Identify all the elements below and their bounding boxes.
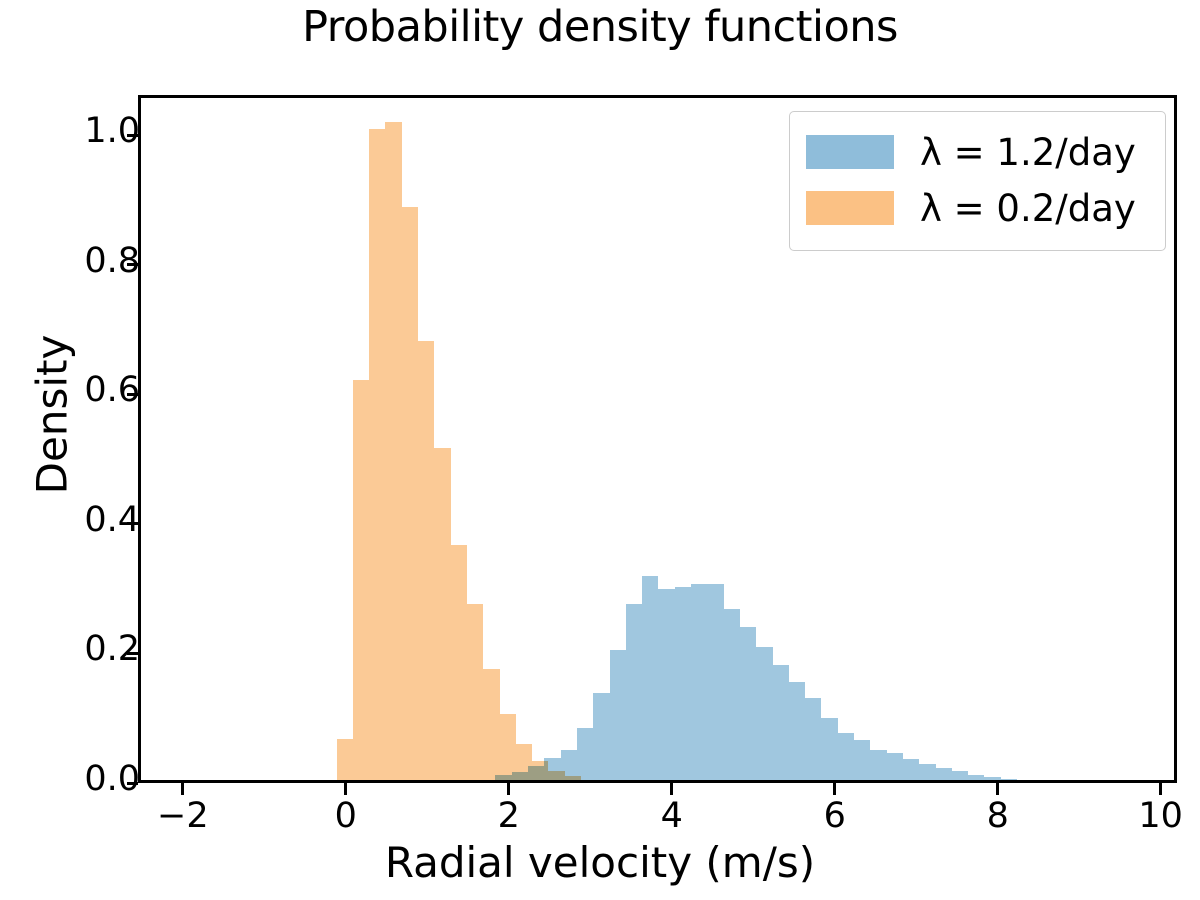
y-axis-tick-label: 0.2 (84, 629, 140, 669)
x-axis-tick-label: 0 (335, 796, 357, 836)
histogram-bar (495, 775, 511, 780)
histogram-bar (740, 627, 756, 780)
histogram-bar (805, 698, 821, 780)
histogram-bar (402, 207, 418, 780)
histogram-bar (1001, 779, 1017, 780)
histogram-bar (353, 380, 369, 780)
histogram-bar (870, 750, 886, 780)
legend-swatch-icon (806, 191, 894, 225)
histogram-bar (691, 584, 707, 780)
histogram-bar (903, 759, 919, 780)
y-axis-tick-label: 1.0 (84, 111, 140, 151)
histogram-bar (952, 771, 968, 780)
histogram-bar (887, 753, 903, 780)
histogram-bar (707, 584, 723, 780)
x-axis-tick (833, 783, 836, 795)
histogram-bar (658, 589, 674, 780)
histogram-bar (434, 448, 450, 780)
histogram-bar (642, 576, 658, 780)
legend-item-label: λ = 1.2/day (920, 131, 1136, 174)
histogram-bar (512, 772, 528, 780)
histogram-bar (789, 682, 805, 780)
histogram-bar (919, 764, 935, 780)
x-axis-tick (344, 783, 347, 795)
x-axis-tick-label: 8 (987, 796, 1009, 836)
x-axis-tick-label: −2 (157, 796, 209, 836)
x-axis-tick (507, 783, 510, 795)
histogram-bar (984, 777, 1000, 780)
histogram-bar (561, 750, 577, 780)
y-axis-label: Density (28, 265, 77, 565)
histogram-bar (773, 665, 789, 780)
y-axis-tick-label: 0.4 (84, 500, 140, 540)
x-axis-tick-label: 4 (661, 796, 683, 836)
y-axis-tick-label: 0.6 (84, 370, 140, 410)
histogram-bar (544, 758, 560, 780)
histogram-bar (838, 733, 854, 780)
histogram-bar (500, 714, 516, 780)
legend-item-label: λ = 0.2/day (920, 187, 1136, 230)
histogram-bar (483, 669, 499, 780)
page-title: Probability density functions (0, 2, 1200, 52)
x-axis-label: Radial velocity (m/s) (0, 838, 1200, 887)
legend: λ = 1.2/day λ = 0.2/day (789, 111, 1166, 251)
histogram-bar (593, 693, 609, 780)
x-axis-tick (181, 783, 184, 795)
histogram-bar (337, 739, 353, 780)
x-axis-tick (996, 783, 999, 795)
histogram-bar (626, 604, 642, 780)
histogram-bar (528, 766, 544, 780)
x-axis-tick (670, 783, 673, 795)
histogram-bar (385, 122, 401, 780)
histogram-bar (821, 718, 837, 780)
x-axis-tick (1159, 783, 1162, 795)
legend-item: λ = 0.2/day (806, 180, 1149, 236)
histogram-bar (451, 545, 467, 780)
legend-item: λ = 1.2/day (806, 124, 1149, 180)
histogram-bar (418, 341, 434, 780)
x-axis-tick-label: 10 (1138, 796, 1183, 836)
x-axis-tick-label: 6 (824, 796, 846, 836)
histogram-bar (756, 647, 772, 780)
legend-swatch-icon (806, 135, 894, 169)
y-axis-tick-label: 0.0 (84, 759, 140, 799)
histogram-bar (577, 728, 593, 780)
histogram-bar (369, 129, 385, 780)
histogram-bar (467, 604, 483, 780)
x-axis-tick-label: 2 (498, 796, 520, 836)
histogram-bar (968, 775, 984, 780)
histogram-bar (675, 587, 691, 780)
figure-canvas: Probability density functions Radial vel… (0, 0, 1200, 900)
histogram-bar (936, 768, 952, 780)
histogram-bar (854, 740, 870, 780)
histogram-bar (610, 650, 626, 780)
histogram-bar (724, 609, 740, 780)
y-axis-tick-label: 0.8 (84, 241, 140, 281)
